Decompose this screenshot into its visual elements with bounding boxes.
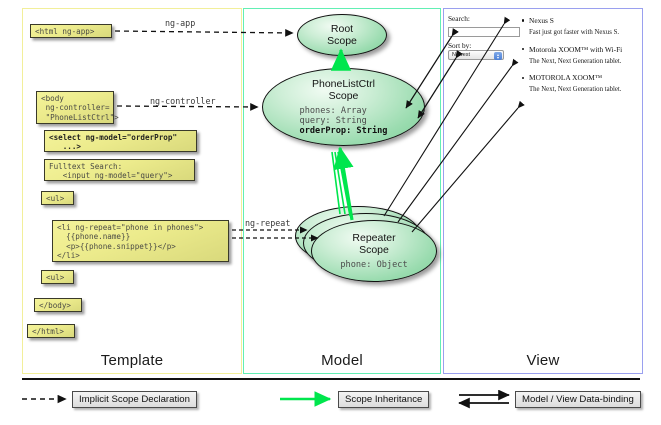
repeater-scope-title: RepeaterScope — [352, 232, 395, 257]
legend-data-binding: Model / View Data-binding — [515, 391, 641, 408]
list-item: Motorola XOOM™ with Wi-Fi The Next, Next… — [520, 45, 636, 67]
edge-label-ng-app: ng-app — [165, 18, 195, 28]
select-tag-box: <select ng-model="orderProp" ...> — [44, 130, 197, 152]
root-scope-title: RootScope — [327, 23, 357, 48]
root-scope-ellipse: RootScope — [297, 14, 387, 56]
phone-snippet: Fast just got faster with Nexus S. — [520, 29, 636, 38]
panel-model: Model — [243, 8, 441, 374]
edge-label-ng-controller: ng-controller — [150, 96, 216, 106]
html-tag-box: <html ng-app> — [30, 24, 112, 38]
panel-model-label: Model — [244, 352, 440, 369]
body-tag-box: <body ng-controller= "PhoneListCtrl"> — [36, 91, 114, 124]
prop-phones: phones: Array — [300, 106, 388, 116]
repeater-scope-props: phone: Object — [340, 260, 407, 270]
phone-name: Motorola XOOM™ with Wi-Fi — [520, 45, 636, 54]
legend-scope-inherit: Scope Inheritance — [338, 391, 429, 408]
phonelistctrl-scope-title: PhoneListCtrlScope — [312, 78, 375, 103]
phonelistctrl-scope-props: phones: Array query: String orderProp: S… — [300, 106, 388, 137]
chevron-updown-icon — [494, 52, 502, 60]
panel-template-label: Template — [23, 352, 241, 369]
body-close-box: </body> — [34, 298, 82, 312]
phonelistctrl-scope-ellipse: PhoneListCtrlScope phones: Array query: … — [262, 68, 425, 146]
legend: Implicit Scope Declaration Scope Inherit… — [0, 378, 661, 425]
html-close-box: </html> — [27, 324, 75, 338]
ul-close-box: <ul> — [41, 270, 74, 284]
phone-list: Nexus S Fast just got faster with Nexus … — [520, 16, 636, 102]
legend-implicit-scope: Implicit Scope Declaration — [72, 391, 197, 408]
diagram-canvas: Template Model View <html ng-app> <body … — [0, 0, 661, 425]
ul-open-box: <ul> — [41, 191, 74, 205]
prop-orderprop: orderProp: String — [300, 126, 388, 136]
list-item: MOTOROLA XOOM™ The Next, Next Generation… — [520, 73, 636, 95]
sort-by-selected-value: Newest — [452, 52, 470, 58]
phone-snippet: The Next, Next Generation tablet. — [520, 58, 636, 67]
phone-snippet: The Next, Next Generation tablet. — [520, 86, 636, 95]
input-search-box: Fulltext Search: <input ng-model="query"… — [44, 159, 195, 181]
li-repeat-box: <li ng-repeat="phone in phones"> {{phone… — [52, 220, 229, 262]
search-input[interactable] — [448, 27, 520, 37]
panel-view-label: View — [444, 352, 642, 369]
repeater-scope-ellipse: RepeaterScope phone: Object — [311, 220, 437, 282]
sort-by-select[interactable]: Newest — [448, 50, 504, 60]
legend-divider — [22, 378, 640, 380]
phone-name: Nexus S — [520, 16, 636, 25]
view-render: Search: Sort by: Newest Nexus S Fast jus… — [448, 14, 636, 344]
list-item: Nexus S Fast just got faster with Nexus … — [520, 16, 636, 38]
prop-query: query: String — [300, 116, 388, 126]
prop-phone: phone: Object — [340, 260, 407, 270]
edge-label-ng-repeat: ng-repeat — [245, 218, 290, 228]
phone-name: MOTOROLA XOOM™ — [520, 73, 636, 82]
